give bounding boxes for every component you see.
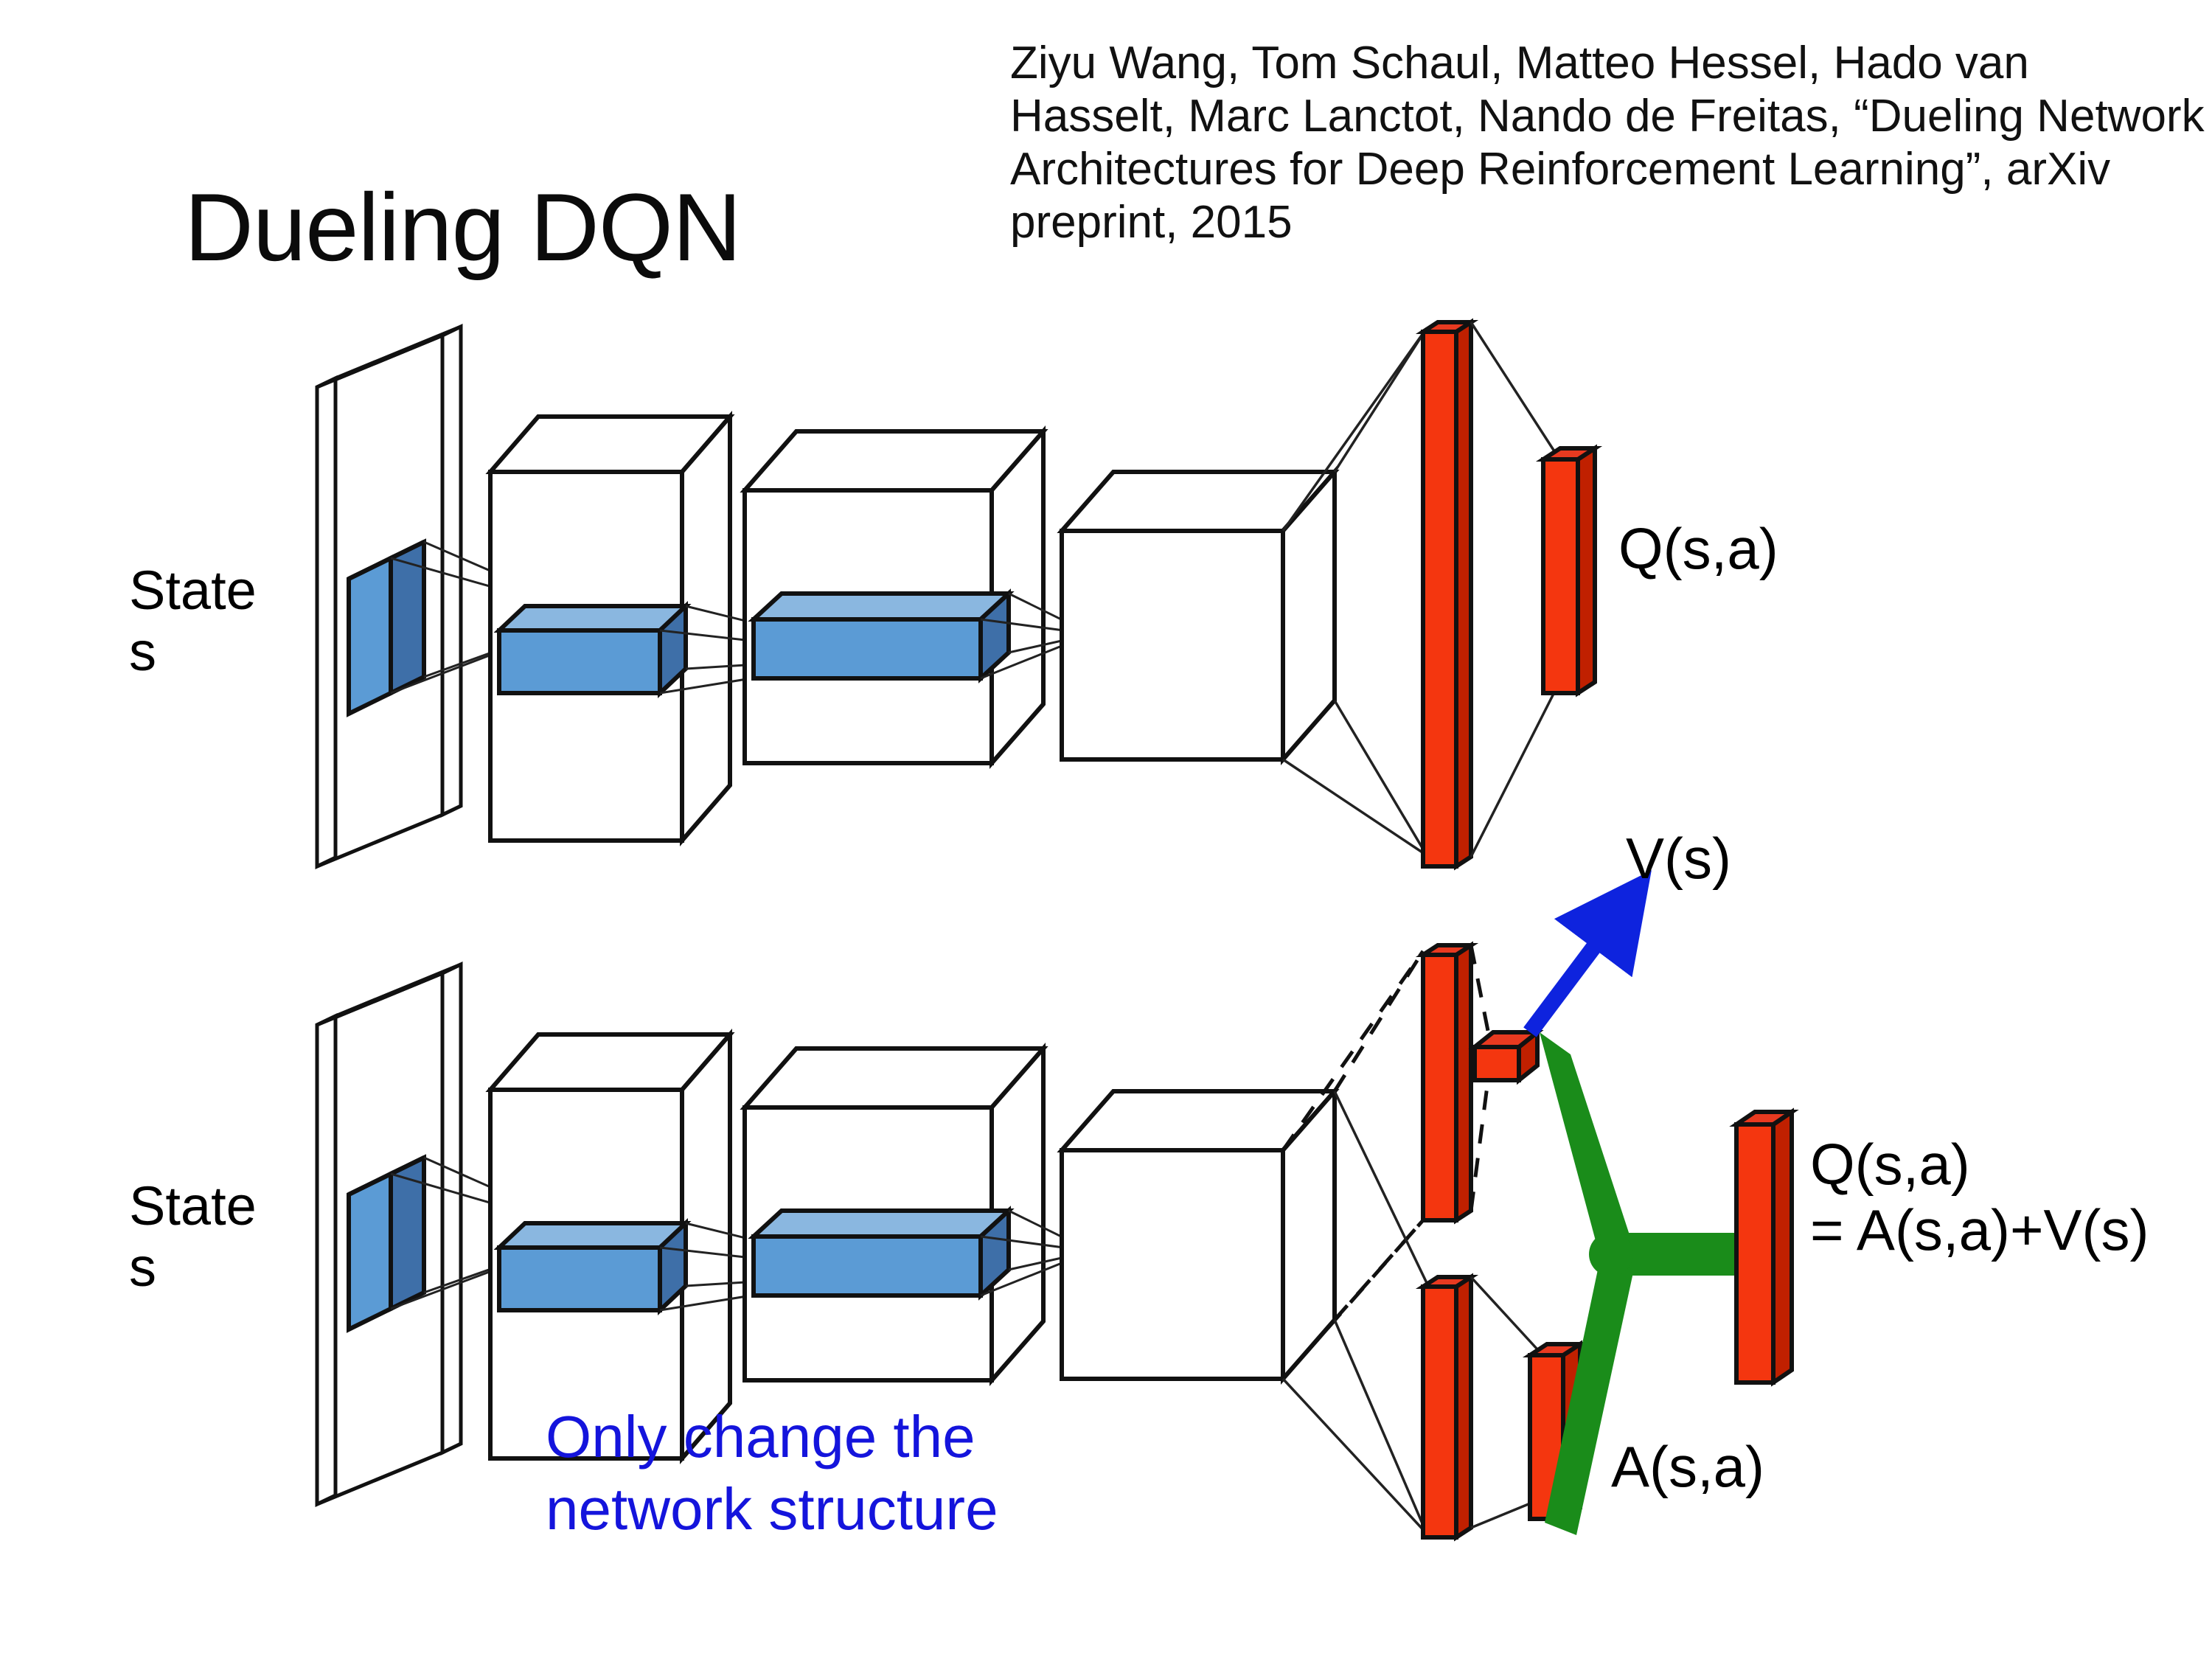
state-label-bottom: State s	[129, 1176, 257, 1298]
fc-value-stream-bar	[1423, 945, 1471, 1220]
output-bar-q-bottom	[1736, 1112, 1792, 1382]
q-label-bottom-line2: = A(s,a)+V(s)	[1810, 1197, 2149, 1263]
citation-text: Ziyu Wang, Tom Schaul, Matteo Hessel, Ha…	[1010, 37, 2205, 249]
value-label: V(s)	[1626, 826, 1731, 891]
top-network	[317, 322, 1595, 866]
bottom-network	[317, 914, 1792, 1537]
value-scalar-cube	[1475, 1032, 1537, 1080]
annotation-line2: network structure	[546, 1473, 998, 1545]
value-callout-arrow	[1530, 914, 1618, 1032]
kernel-slab-1-top	[499, 606, 686, 693]
state-label-bottom-line1: State	[129, 1176, 257, 1237]
kernel-slab-2-top	[754, 594, 1009, 678]
q-value-label-top: Q(s,a)	[1618, 516, 1778, 582]
advantage-output-lines	[1471, 1277, 1537, 1528]
fc-advantage-stream-bar	[1423, 1277, 1471, 1537]
fc-layer-top	[1423, 322, 1471, 866]
annotation-note: Only change the network structure	[546, 1401, 998, 1545]
output-bar-q-top	[1543, 448, 1595, 693]
state-label-top-line1: State	[129, 560, 257, 622]
state-label-top: State s	[129, 560, 257, 683]
q-label-bottom-line1: Q(s,a)	[1810, 1132, 2149, 1197]
kernel-slab-2-bottom	[754, 1211, 1009, 1295]
state-label-bottom-line2: s	[129, 1237, 257, 1298]
annotation-line1: Only change the	[546, 1401, 998, 1473]
state-label-top-line2: s	[129, 622, 257, 683]
page-title: Dueling DQN	[184, 177, 741, 278]
q-value-label-bottom: Q(s,a) = A(s,a)+V(s)	[1810, 1132, 2149, 1263]
kernel-slab-1-bottom	[499, 1223, 686, 1310]
advantage-label: A(s,a)	[1611, 1434, 1764, 1500]
